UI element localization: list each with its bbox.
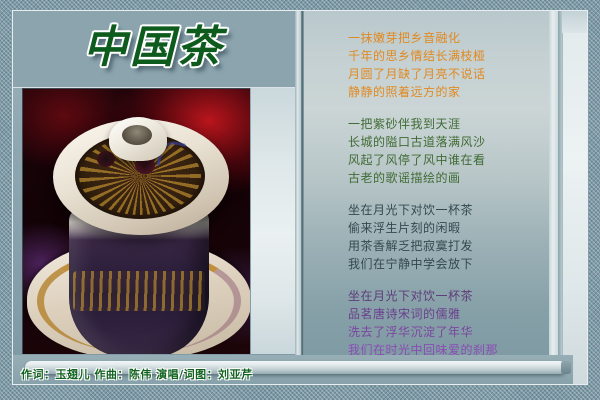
credits-text: 作词：玉翅儿 作曲：陈伟 演唱/词图：刘亚芹 [21,368,253,382]
content-card: 中国茶 一抹嫩芽把乡音融化千年的思乡情 [12,10,588,385]
lyrics-panel: 一抹嫩芽把乡音融化千年的思乡情结长满枝桠月圆了月缺了月亮不说话静静的照着远方的家… [304,11,549,385]
lyrics-stanza: 一抹嫩芽把乡音融化千年的思乡情结长满枝桠月圆了月缺了月亮不说话静静的照着远方的家 [348,29,545,101]
decor-strip-right-top [562,11,588,33]
title-banner: 中国茶 [13,11,299,88]
lyrics-line: 偷来浮生片刻的闲暇 [348,219,545,237]
lyrics-stanza: 坐在月光下对饮一杯茶偷来浮生片刻的闲暇用茶香解乏把寂寞打发我们在宁静中学会放下 [348,201,545,273]
lyrics-stanza: 坐在月光下对饮一杯茶品茗唐诗宋词的儒雅洗去了浮华沉淀了年华我们在时光中回味爱的刹… [348,287,545,359]
lyrics-line: 月圆了月缺了月亮不说话 [348,65,545,83]
decor-strip-right-c [562,33,588,385]
lyrics-list: 一抹嫩芽把乡音融化千年的思乡情结长满枝桠月圆了月缺了月亮不说话静静的照着远方的家… [348,29,545,373]
page-title: 中国茶 [83,17,224,79]
lyrics-line: 用茶香解乏把寂寞打发 [348,237,545,255]
lyrics-line: 我们在宁静中学会放下 [348,255,545,273]
lyrics-line: 古老的歌谣描绘的画 [348,169,545,187]
lyrics-line: 坐在月光下对饮一杯茶 [348,201,545,219]
lyrics-stanza: 一把紫砂伴我到天涯长城的隘口古道落满风沙风起了风停了风中谁在看古老的歌谣描绘的画 [348,115,545,187]
roller-bar-cap [561,361,571,374]
lyrics-line: 静静的照着远方的家 [348,83,545,101]
lyrics-line: 千年的思乡情结长满枝桠 [348,47,545,65]
lid-knob-hollow [122,125,152,145]
lyrics-line: 坐在月光下对饮一杯茶 [348,287,545,305]
wallpaper-stage: 中国茶 一抹嫩芽把乡音融化千年的思乡情 [0,0,600,400]
decor-strip-right-a [549,11,558,385]
teacup-photo-frame [22,88,250,354]
lyrics-line: 一把紫砂伴我到天涯 [348,115,545,133]
lyrics-line: 一抹嫩芽把乡音融化 [348,29,545,47]
lyrics-line: 长城的隘口古道落满风沙 [348,133,545,151]
cup-gold-band [73,271,205,311]
lid-motif-dot-a [97,151,115,167]
decor-panel-light [251,88,296,354]
lyrics-line: 品茗唐诗宋词的儒雅 [348,305,545,323]
lyrics-line: 风起了风停了风中谁在看 [348,151,545,169]
lyrics-line: 洗去了浮华沉淀了年华 [348,323,545,341]
teacup-photo [23,89,250,354]
